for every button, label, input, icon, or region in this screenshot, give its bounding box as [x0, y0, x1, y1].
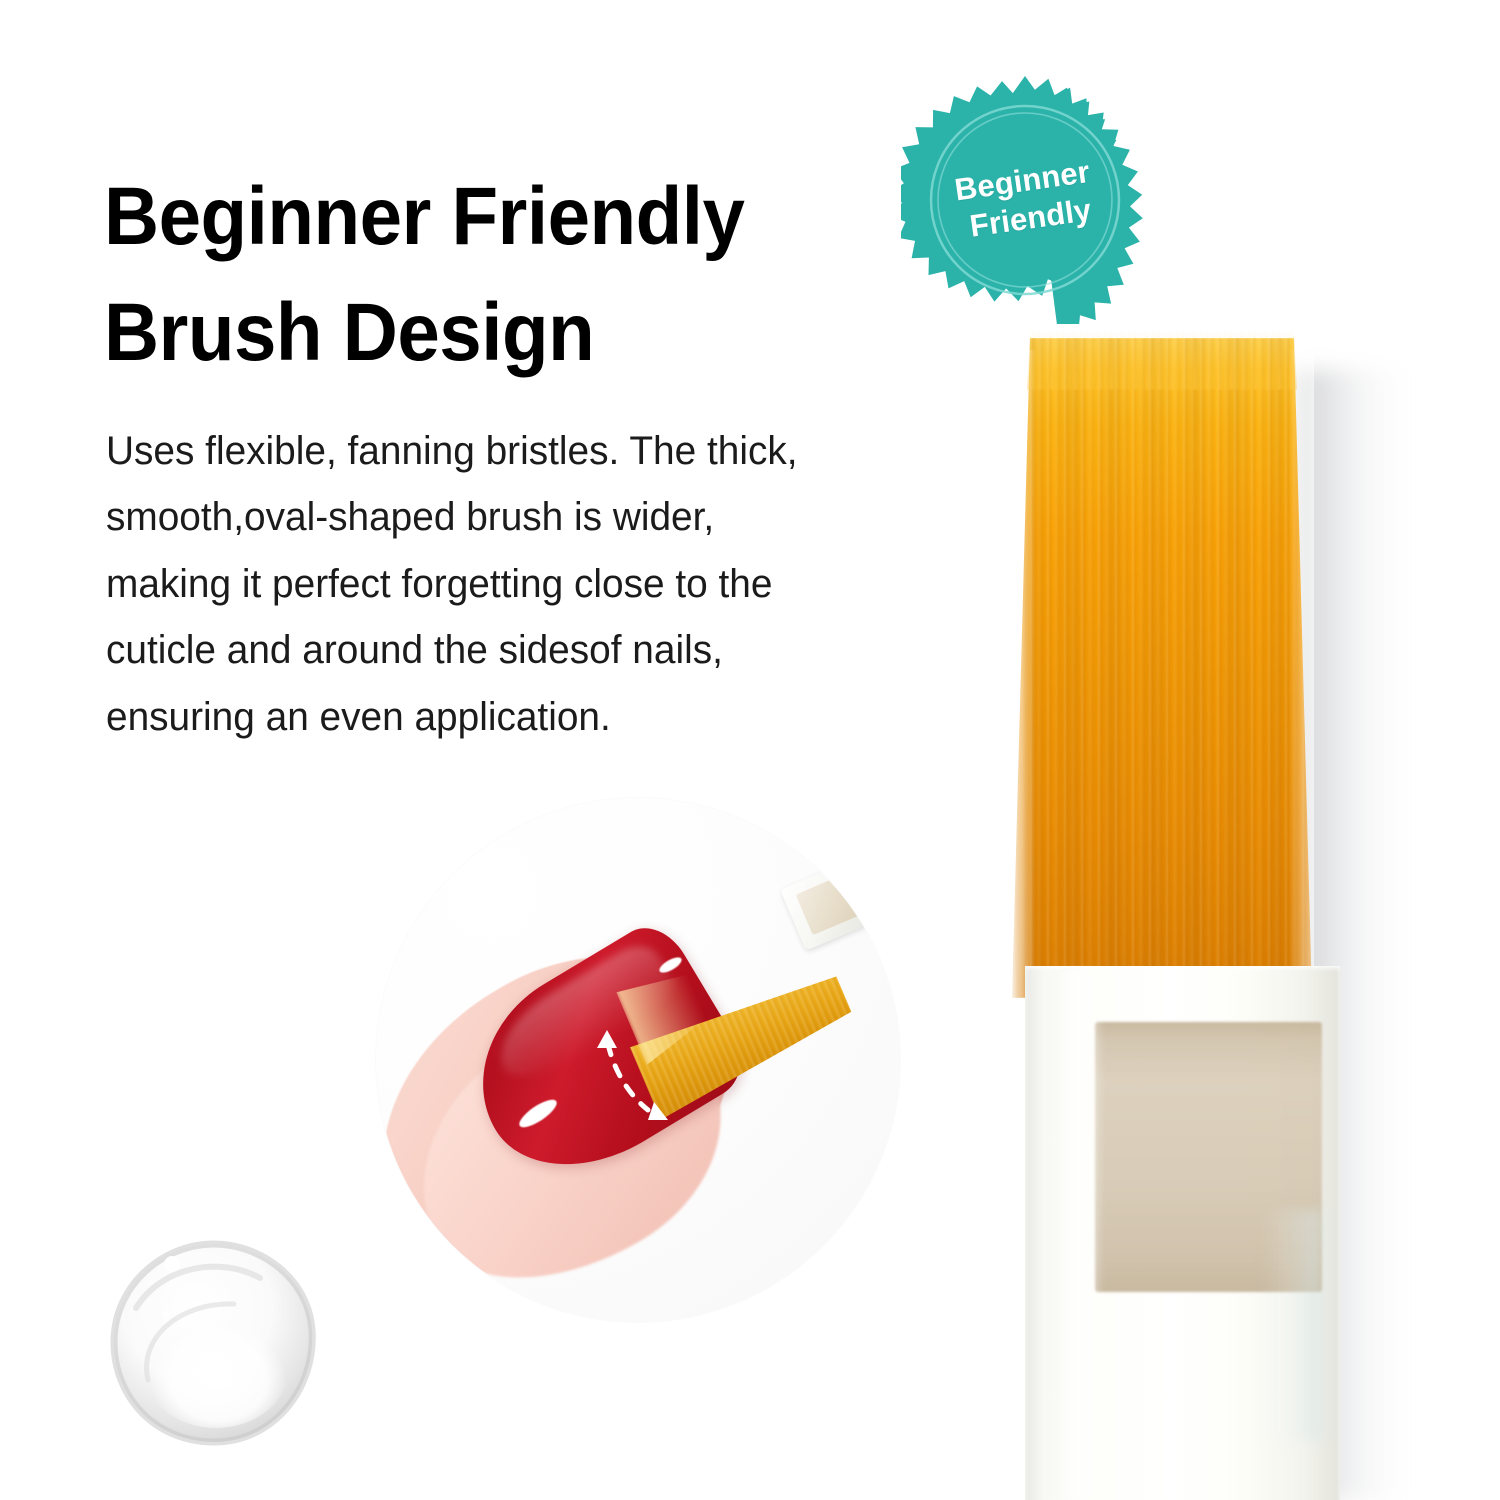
beginner-friendly-badge: Beginner Friendly [901, 76, 1149, 324]
brush-bristles [1012, 338, 1312, 998]
badge-inner-ring-2 [938, 113, 1112, 287]
brush-bristle-tips [1012, 330, 1312, 390]
bristle-edge-left [1010, 350, 1036, 1000]
infographic-canvas: Beginner Friendly Brush Design Uses flex… [0, 0, 1500, 1500]
page-title: Beginner Friendly Brush Design [104, 159, 848, 392]
nail-application-inset [376, 798, 900, 1322]
droplet-highlight-small [163, 1311, 170, 1318]
handle-highlight [1056, 970, 1104, 1500]
droplet-core [142, 1304, 290, 1428]
handle-reflection [1260, 1210, 1322, 1440]
gel-droplet [108, 1238, 320, 1450]
bristle-edge-right [1288, 350, 1314, 1000]
description-text: Uses flexible, fanning bristles. The thi… [106, 418, 911, 750]
brush-product-image [960, 330, 1440, 1500]
droplet-highlight-large [164, 1256, 180, 1272]
badge-inner-ring [931, 106, 1119, 294]
